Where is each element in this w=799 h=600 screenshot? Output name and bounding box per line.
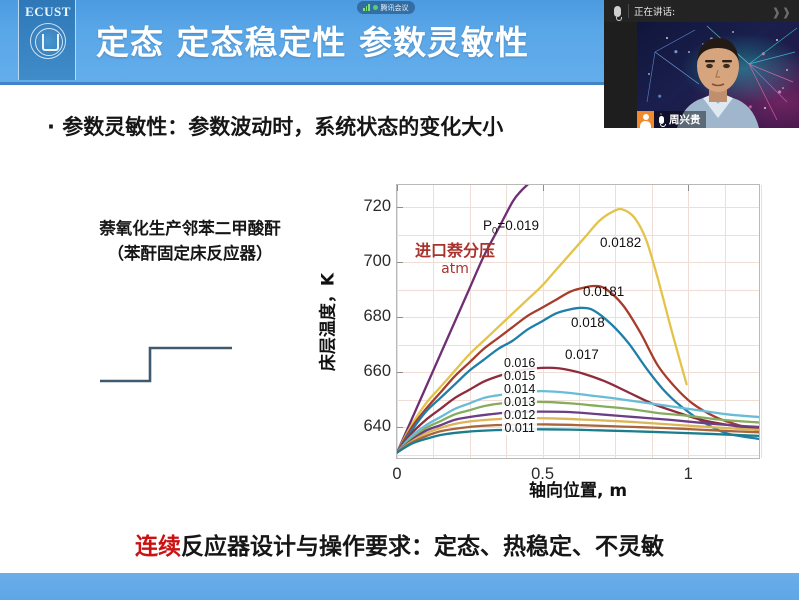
participant-name: 周兴贵: [669, 112, 701, 127]
microphone-icon: [659, 116, 664, 124]
header-divider: [628, 4, 629, 18]
chart-x-tick-mark: [397, 185, 398, 191]
chart-x-tick-label: 0.5: [531, 465, 554, 484]
slide-screenshot: ECUST 定态 定态稳定性 参数灵敏性 腾讯会议 · 参数灵敏性：参数波动时，…: [0, 0, 799, 600]
green-dot-icon: [373, 5, 378, 10]
tencent-meeting-label: 腾讯会议: [381, 3, 409, 13]
ecust-seal-icon: [30, 23, 66, 59]
chart-y-tick-label: 700: [363, 252, 391, 271]
curve-label-0018: 0.018: [571, 315, 605, 330]
reaction-caption-line2: （苯酐固定床反应器）: [56, 242, 324, 267]
ecust-logo: ECUST: [18, 0, 76, 80]
chart-curve-0011: [397, 429, 759, 452]
chart-x-tick-label: 1: [684, 465, 693, 484]
curve-label-00182: 0.0182: [600, 235, 641, 250]
bottom-summary-line: 连续反应器设计与操作要求：定态、热稳定、不灵敏: [0, 527, 799, 561]
slide-footer-bar: [0, 573, 799, 600]
chart-y-tick-label: 660: [363, 362, 391, 381]
chart-x-tick-label: 0: [392, 465, 401, 484]
chart-annotation-inlet-pressure: 进口萘分压 atm: [415, 237, 495, 277]
signal-bars-icon: [363, 4, 370, 11]
bed-temperature-chart: 床层温度，K 轴向位置, m 进口萘分压 atm P0=0.019 0.0182…: [332, 172, 798, 502]
chart-x-tick-mark: [688, 185, 689, 191]
curve-label-00181: 0.0181: [583, 284, 624, 299]
video-panel[interactable]: 正在讲话: ❱❱: [604, 0, 799, 128]
chart-y-tick-mark: [397, 372, 403, 373]
curve-label-0017: 0.017: [565, 347, 599, 362]
chart-y-tick-label: 720: [363, 197, 391, 216]
chart-y-tick-mark: [397, 317, 403, 318]
step-profile-diagram: [92, 330, 272, 396]
curve-label-0011: 0.011: [504, 422, 535, 435]
video-panel-header: 正在讲话: ❱❱: [604, 0, 799, 22]
chart-y-tick-mark: [397, 427, 403, 428]
chart-y-tick-label: 640: [363, 417, 391, 436]
user-avatar-icon: [637, 111, 654, 128]
reaction-caption-line1: 萘氧化生产邻苯二甲酸酐: [56, 217, 324, 242]
curve-label-0019: P0=0.019: [483, 218, 539, 237]
participant-nametag: 周兴贵: [637, 111, 706, 128]
chart-y-tick-mark: [397, 262, 403, 263]
chart-y-tick-label: 680: [363, 307, 391, 326]
reaction-caption: 萘氧化生产邻苯二甲酸酐 （苯酐固定床反应器）: [56, 217, 324, 267]
microphone-icon: [614, 6, 621, 17]
speaking-status-label: 正在讲话:: [634, 4, 675, 18]
tencent-meeting-badge: 腾讯会议: [357, 1, 415, 14]
chart-plot-area: 进口萘分压 atm P0=0.019 0.0182 0.0181 0.018 0…: [396, 184, 760, 459]
bottom-summary-rest: 反应器设计与操作要求：定态、热稳定、不灵敏: [181, 534, 664, 560]
chart-x-tick-mark: [543, 185, 544, 191]
curve-label-stack: 0.016 0.015 0.014 0.013 0.012 0.011: [502, 357, 537, 435]
page-title: 定态 定态稳定性 参数灵敏性: [96, 16, 616, 64]
chart-y-tick-mark: [397, 207, 403, 208]
more-options-icon[interactable]: ❱❱: [772, 6, 792, 19]
video-feed[interactable]: 周兴贵: [637, 22, 799, 128]
chart-y-axis-label: 床层温度，K: [314, 273, 339, 371]
bottom-summary-highlight: 连续: [135, 534, 181, 560]
bullet-text: · 参数灵敏性：参数波动时，系统状态的变化大小: [47, 111, 503, 141]
ecust-logo-text: ECUST: [19, 4, 77, 20]
